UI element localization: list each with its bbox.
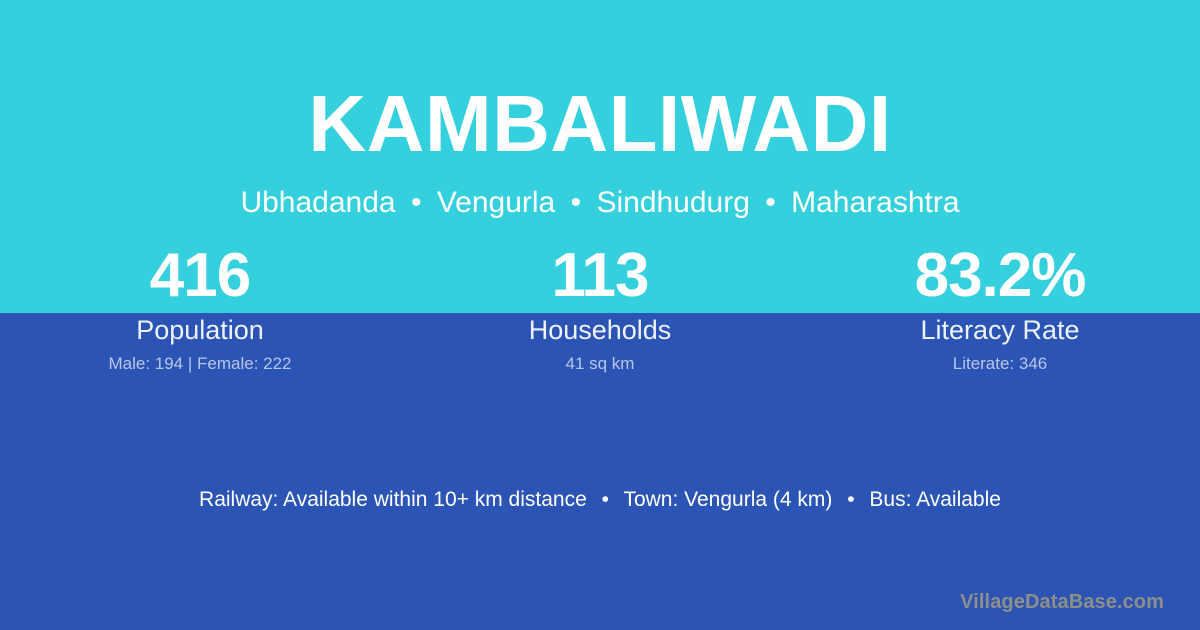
breadcrumb-separator-icon: • [404,186,429,219]
infrastructure-town: Town: Vengurla (4 km) [623,488,832,511]
stat-block-households: 113 Households 41 sq km [400,245,800,374]
stat-sub-population: Male: 194 | Female: 222 [0,354,400,374]
breadcrumb: Ubhadanda • Vengurla • Sindhudurg • Maha… [0,164,1200,218]
stat-block-literacy-rate: 83.2% Literacy Rate Literate: 346 [800,245,1200,374]
stats-row: 416 Population Male: 194 | Female: 222 1… [0,245,1200,374]
stat-block-population: 416 Population Male: 194 | Female: 222 [0,245,400,374]
stat-label-population: Population [0,315,400,345]
breadcrumb-taluka: Vengurla [437,186,555,219]
breadcrumb-separator-icon: • [758,186,783,219]
breadcrumb-village-panchayat: Ubhadanda [240,186,395,219]
infrastructure-summary: Railway: Available within 10+ km distanc… [0,487,1200,513]
stat-value-population: 416 [0,245,400,307]
infrastructure-railway: Railway: Available within 10+ km distanc… [199,488,587,511]
breadcrumb-separator-icon: • [564,186,589,219]
stat-label-households: Households [400,315,800,345]
page-title: KAMBALIWADI [0,0,1200,164]
stat-value-literacy-rate: 83.2% [800,245,1200,307]
stat-sub-households: 41 sq km [400,354,800,374]
card-header: KAMBALIWADI Ubhadanda • Vengurla • Sindh… [0,0,1200,218]
infrastructure-separator-icon: • [838,488,863,511]
stat-sub-literacy-rate: Literate: 346 [800,354,1200,374]
breadcrumb-district: Sindhudurg [596,186,749,219]
breadcrumb-state: Maharashtra [791,186,959,219]
stat-value-households: 113 [400,245,800,307]
stat-label-literacy-rate: Literacy Rate [800,315,1200,345]
infrastructure-separator-icon: • [593,488,618,511]
site-brand-watermark: VillageDataBase.com [960,590,1164,614]
infrastructure-bus: Bus: Available [869,488,1001,511]
village-info-card: KAMBALIWADI Ubhadanda • Vengurla • Sindh… [0,0,1200,630]
